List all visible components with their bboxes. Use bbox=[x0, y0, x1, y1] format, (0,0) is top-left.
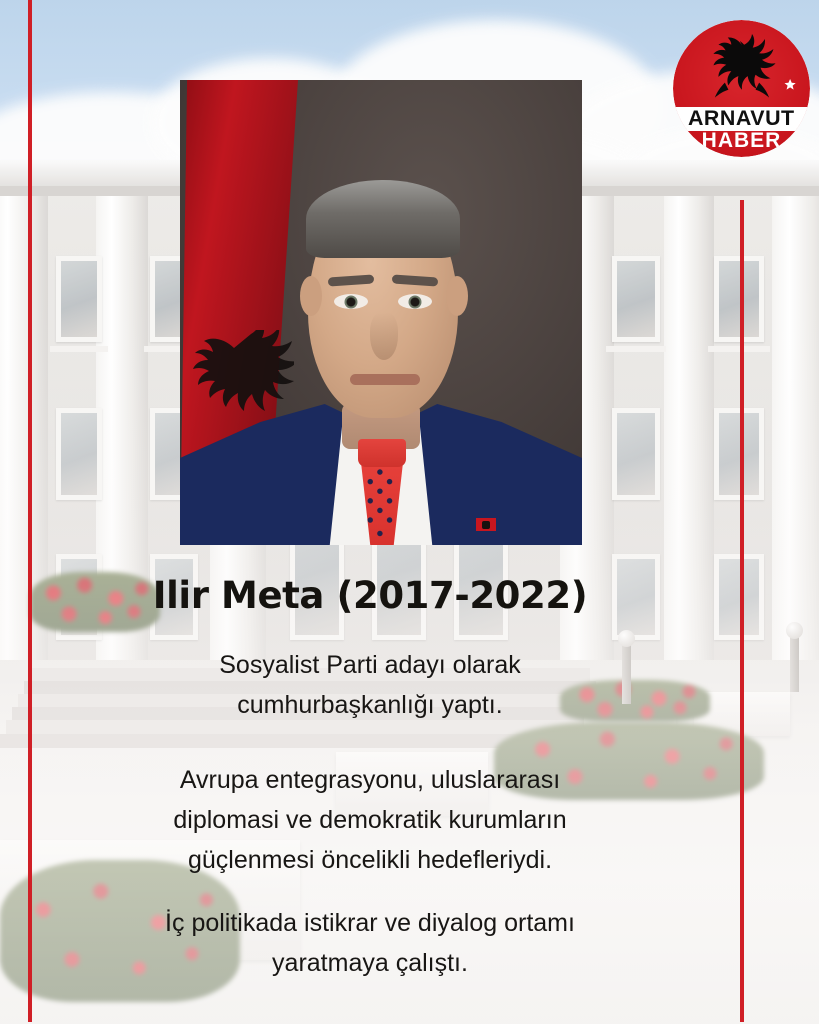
mouth bbox=[350, 374, 420, 385]
arnavut-haber-logo[interactable]: ARNAVUT HABER bbox=[673, 20, 810, 157]
ear bbox=[300, 276, 322, 316]
right-accent-rule bbox=[740, 200, 744, 1022]
poster-paragraph-1: Sosyalist Parti adayı olarakcumhurbaşkan… bbox=[0, 645, 740, 725]
poster: ARNAVUT HABER Ilir Meta (2017-2022) Sosy… bbox=[0, 0, 819, 1024]
portrait-photo bbox=[180, 80, 582, 545]
logo-line-1: ARNAVUT bbox=[688, 107, 795, 131]
hair bbox=[306, 180, 460, 258]
ear bbox=[446, 276, 468, 316]
eye bbox=[334, 294, 368, 309]
poster-paragraph-3: İç politikada istikrar ve diyalog ortamı… bbox=[0, 903, 740, 983]
eye bbox=[398, 294, 432, 309]
poster-paragraph-2: Avrupa entegrasyonu, uluslararasıdiploma… bbox=[0, 760, 740, 880]
poster-title: Ilir Meta (2017-2022) bbox=[0, 574, 740, 617]
nose bbox=[370, 312, 398, 360]
logo-name-band: ARNAVUT bbox=[673, 107, 810, 131]
necktie-knot bbox=[358, 439, 406, 467]
logo-line-2: HABER bbox=[673, 129, 810, 153]
crescent-star-icon bbox=[766, 68, 798, 100]
albanian-flag-lapel-pin bbox=[476, 518, 496, 531]
